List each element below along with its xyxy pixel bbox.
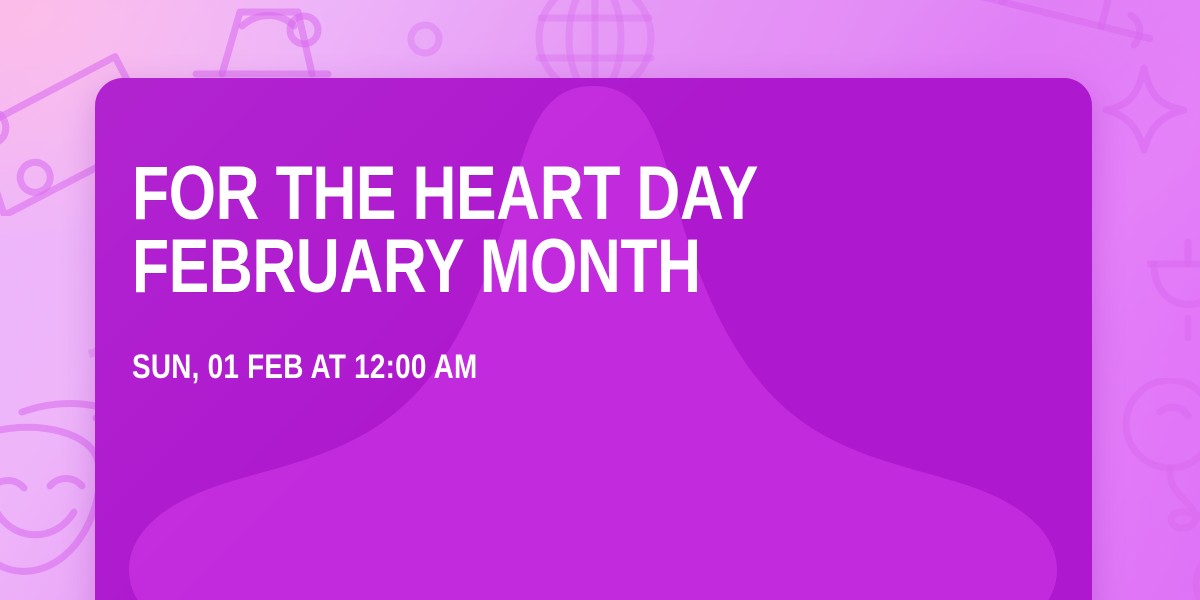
event-banner: For the Heart Day February Month Sun, 01… (0, 0, 1200, 600)
card-content: For the Heart Day February Month Sun, 01… (132, 158, 1032, 384)
event-datetime: Sun, 01 Feb at 12:00 AM (132, 350, 870, 384)
event-title: For the Heart Day February Month (132, 158, 852, 304)
event-card[interactable]: For the Heart Day February Month Sun, 01… (95, 78, 1092, 600)
